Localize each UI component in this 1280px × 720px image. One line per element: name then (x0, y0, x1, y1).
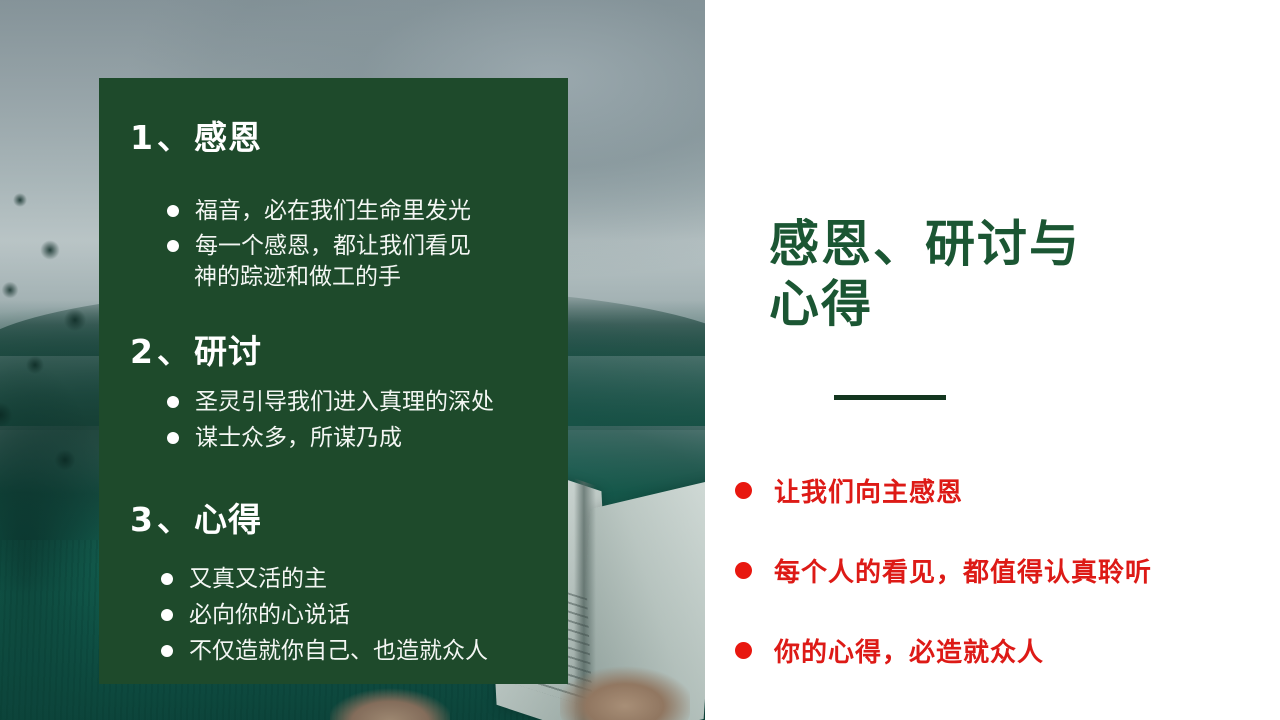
bullet-dot-icon (167, 396, 179, 408)
card-bullet-1-2: 每一个感恩，都让我们看见 神的踪迹和做工的手 (167, 231, 471, 293)
section-heading-2: 2、研讨 (130, 335, 262, 368)
slide: 1、感恩 福音，必在我们生命里发光 每一个感恩，都让我们看见 神的踪迹和做工的手… (0, 0, 1280, 720)
bullet-dot-icon (161, 645, 173, 657)
bullet-dot-icon (167, 240, 179, 252)
page-title: 感恩、研讨与 心得 (769, 214, 1239, 334)
card-bullet-text: 福音，必在我们生命里发光 (195, 198, 471, 224)
list-item: 让我们向主感恩 (735, 472, 1275, 509)
card-bullet-2-2: 谋士众多，所谋乃成 (167, 423, 402, 454)
card-bullet-text: 又真又活的主 (189, 566, 327, 592)
card-bullet-3-2: 必向你的心说话 (161, 600, 350, 631)
card-bullet-text: 必向你的心说话 (189, 602, 350, 628)
title-divider (834, 395, 946, 400)
section-number-1: 1、 (130, 118, 194, 157)
section-number-2: 2、 (130, 332, 194, 371)
section-title-3: 心得 (194, 500, 262, 539)
page-title-line-2: 心得 (769, 274, 1239, 334)
page-title-line-1: 感恩、研讨与 (769, 214, 1239, 274)
bullet-dot-icon (167, 205, 179, 217)
section-number-3: 3、 (130, 500, 194, 539)
card-bullet-text-cont: 神的踪迹和做工的手 (194, 262, 471, 293)
card-bullet-text: 谋士众多，所谋乃成 (195, 425, 402, 451)
section-heading-3: 3、心得 (130, 503, 262, 536)
bullet-dot-icon (735, 482, 752, 499)
card-bullet-1-1: 福音，必在我们生命里发光 (167, 196, 471, 227)
summary-bullet-text: 让我们向主感恩 (774, 472, 963, 509)
summary-bullet-text: 你的心得，必造就众人 (774, 632, 1044, 669)
card-bullet-2-1: 圣灵引导我们进入真理的深处 (167, 387, 494, 418)
card-bullet-text: 不仅造就你自己、也造就众人 (189, 638, 488, 664)
section-heading-1: 1、感恩 (130, 121, 262, 154)
list-item: 每个人的看见，都值得认真聆听 (735, 552, 1275, 589)
summary-bullet-text: 每个人的看见，都值得认真聆听 (774, 552, 1152, 589)
bullet-dot-icon (735, 642, 752, 659)
bullet-dot-icon (161, 573, 173, 585)
section-title-2: 研讨 (194, 332, 262, 371)
green-content-card: 1、感恩 福音，必在我们生命里发光 每一个感恩，都让我们看见 神的踪迹和做工的手… (99, 78, 568, 684)
card-bullet-text: 圣灵引导我们进入真理的深处 (195, 389, 494, 415)
section-title-1: 感恩 (194, 118, 262, 157)
card-bullet-3-1: 又真又活的主 (161, 564, 327, 595)
hand-left (330, 686, 450, 720)
right-panel: 感恩、研讨与 心得 让我们向主感恩 每个人的看见，都值得认真聆听 你的心得，必造… (705, 0, 1280, 720)
bullet-dot-icon (167, 432, 179, 444)
bullet-dot-icon (161, 609, 173, 621)
summary-bullet-list: 让我们向主感恩 每个人的看见，都值得认真聆听 你的心得，必造就众人 (735, 472, 1275, 712)
hand-right (560, 664, 690, 720)
list-item: 你的心得，必造就众人 (735, 632, 1275, 669)
card-bullet-text: 每一个感恩，都让我们看见 (195, 233, 471, 259)
green-card-inner: 1、感恩 福音，必在我们生命里发光 每一个感恩，都让我们看见 神的踪迹和做工的手… (99, 78, 568, 684)
card-bullet-3-3: 不仅造就你自己、也造就众人 (161, 636, 488, 667)
bullet-dot-icon (735, 562, 752, 579)
